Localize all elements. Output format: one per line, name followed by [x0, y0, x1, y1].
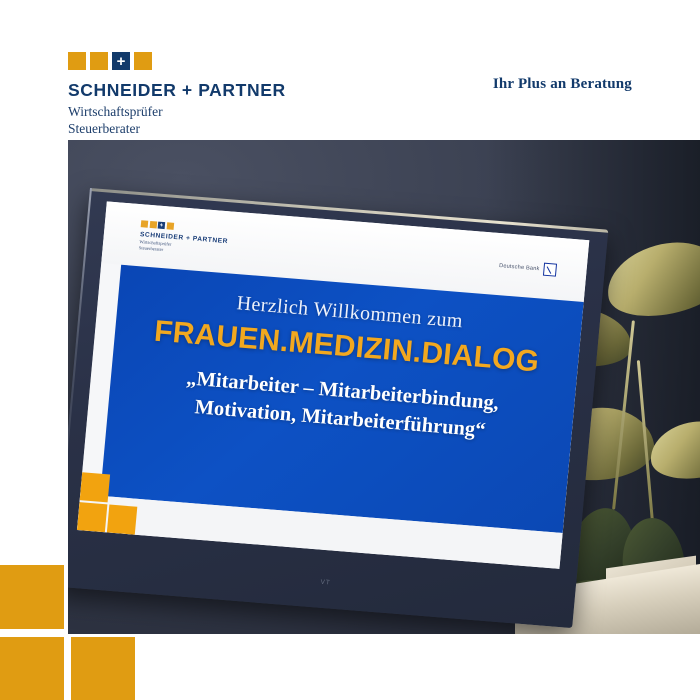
slide-logo-plus-icon: + [158, 222, 166, 230]
slide-logo-square-2 [149, 221, 157, 229]
slide-footer-square-2 [77, 502, 107, 532]
brand-subtitle-line-1: Wirtschaftsprüfer [68, 103, 286, 120]
deutsche-bank-label: Deutsche Bank [499, 263, 540, 272]
corner-square-3 [71, 637, 135, 700]
slide-body: Herzlich Willkommen zum FRAUEN.MEDIZIN.D… [100, 265, 584, 533]
page-root: + SCHNEIDER + PARTNER Wirtschaftsprüfer … [0, 0, 700, 700]
logo-plus-icon: + [112, 52, 130, 70]
slide-footer-square-3 [107, 505, 137, 535]
brand-subtitle-line-2: Steuerberater [68, 120, 286, 137]
slide-logo-square-4 [166, 222, 174, 230]
brand-subtitle: Wirtschaftsprüfer Steuerberater [68, 103, 286, 138]
tv-screen: + SCHNEIDER + PARTNER Wirtschaftsprüfer … [77, 201, 589, 568]
wall-mounted-tv: VT + SCHNEIDER + PARTNER [68, 188, 608, 628]
corner-square-2 [0, 637, 64, 700]
page-header: + SCHNEIDER + PARTNER Wirtschaftsprüfer … [0, 0, 700, 140]
slide-company-logo: + SCHNEIDER + PARTNER Wirtschaftsprüfer … [138, 220, 229, 258]
deutsche-bank-logo: Deutsche Bank [499, 259, 558, 277]
presentation-slide: + SCHNEIDER + PARTNER Wirtschaftsprüfer … [77, 201, 589, 568]
company-logo: + SCHNEIDER + PARTNER Wirtschaftsprüfer … [68, 52, 286, 138]
slide-logo-square-1 [141, 220, 149, 228]
logo-square-group: + [68, 52, 286, 70]
header-tagline: Ihr Plus an Beratung [493, 76, 632, 93]
slide-text-block: Herzlich Willkommen zum FRAUEN.MEDIZIN.D… [108, 283, 583, 452]
brand-name: SCHNEIDER + PARTNER [68, 80, 286, 101]
photo-panel: VT + SCHNEIDER + PARTNER [68, 140, 700, 634]
corner-square-1 [0, 565, 64, 629]
plant-leaf-right [647, 416, 700, 484]
tv-brand-label: VT [320, 579, 331, 587]
logo-square-1 [68, 52, 86, 70]
deutsche-bank-slash-icon [543, 263, 557, 277]
logo-square-4 [134, 52, 152, 70]
slide-footer-square-1 [80, 472, 110, 502]
logo-square-2 [90, 52, 108, 70]
slide-footer-squares [77, 472, 146, 535]
